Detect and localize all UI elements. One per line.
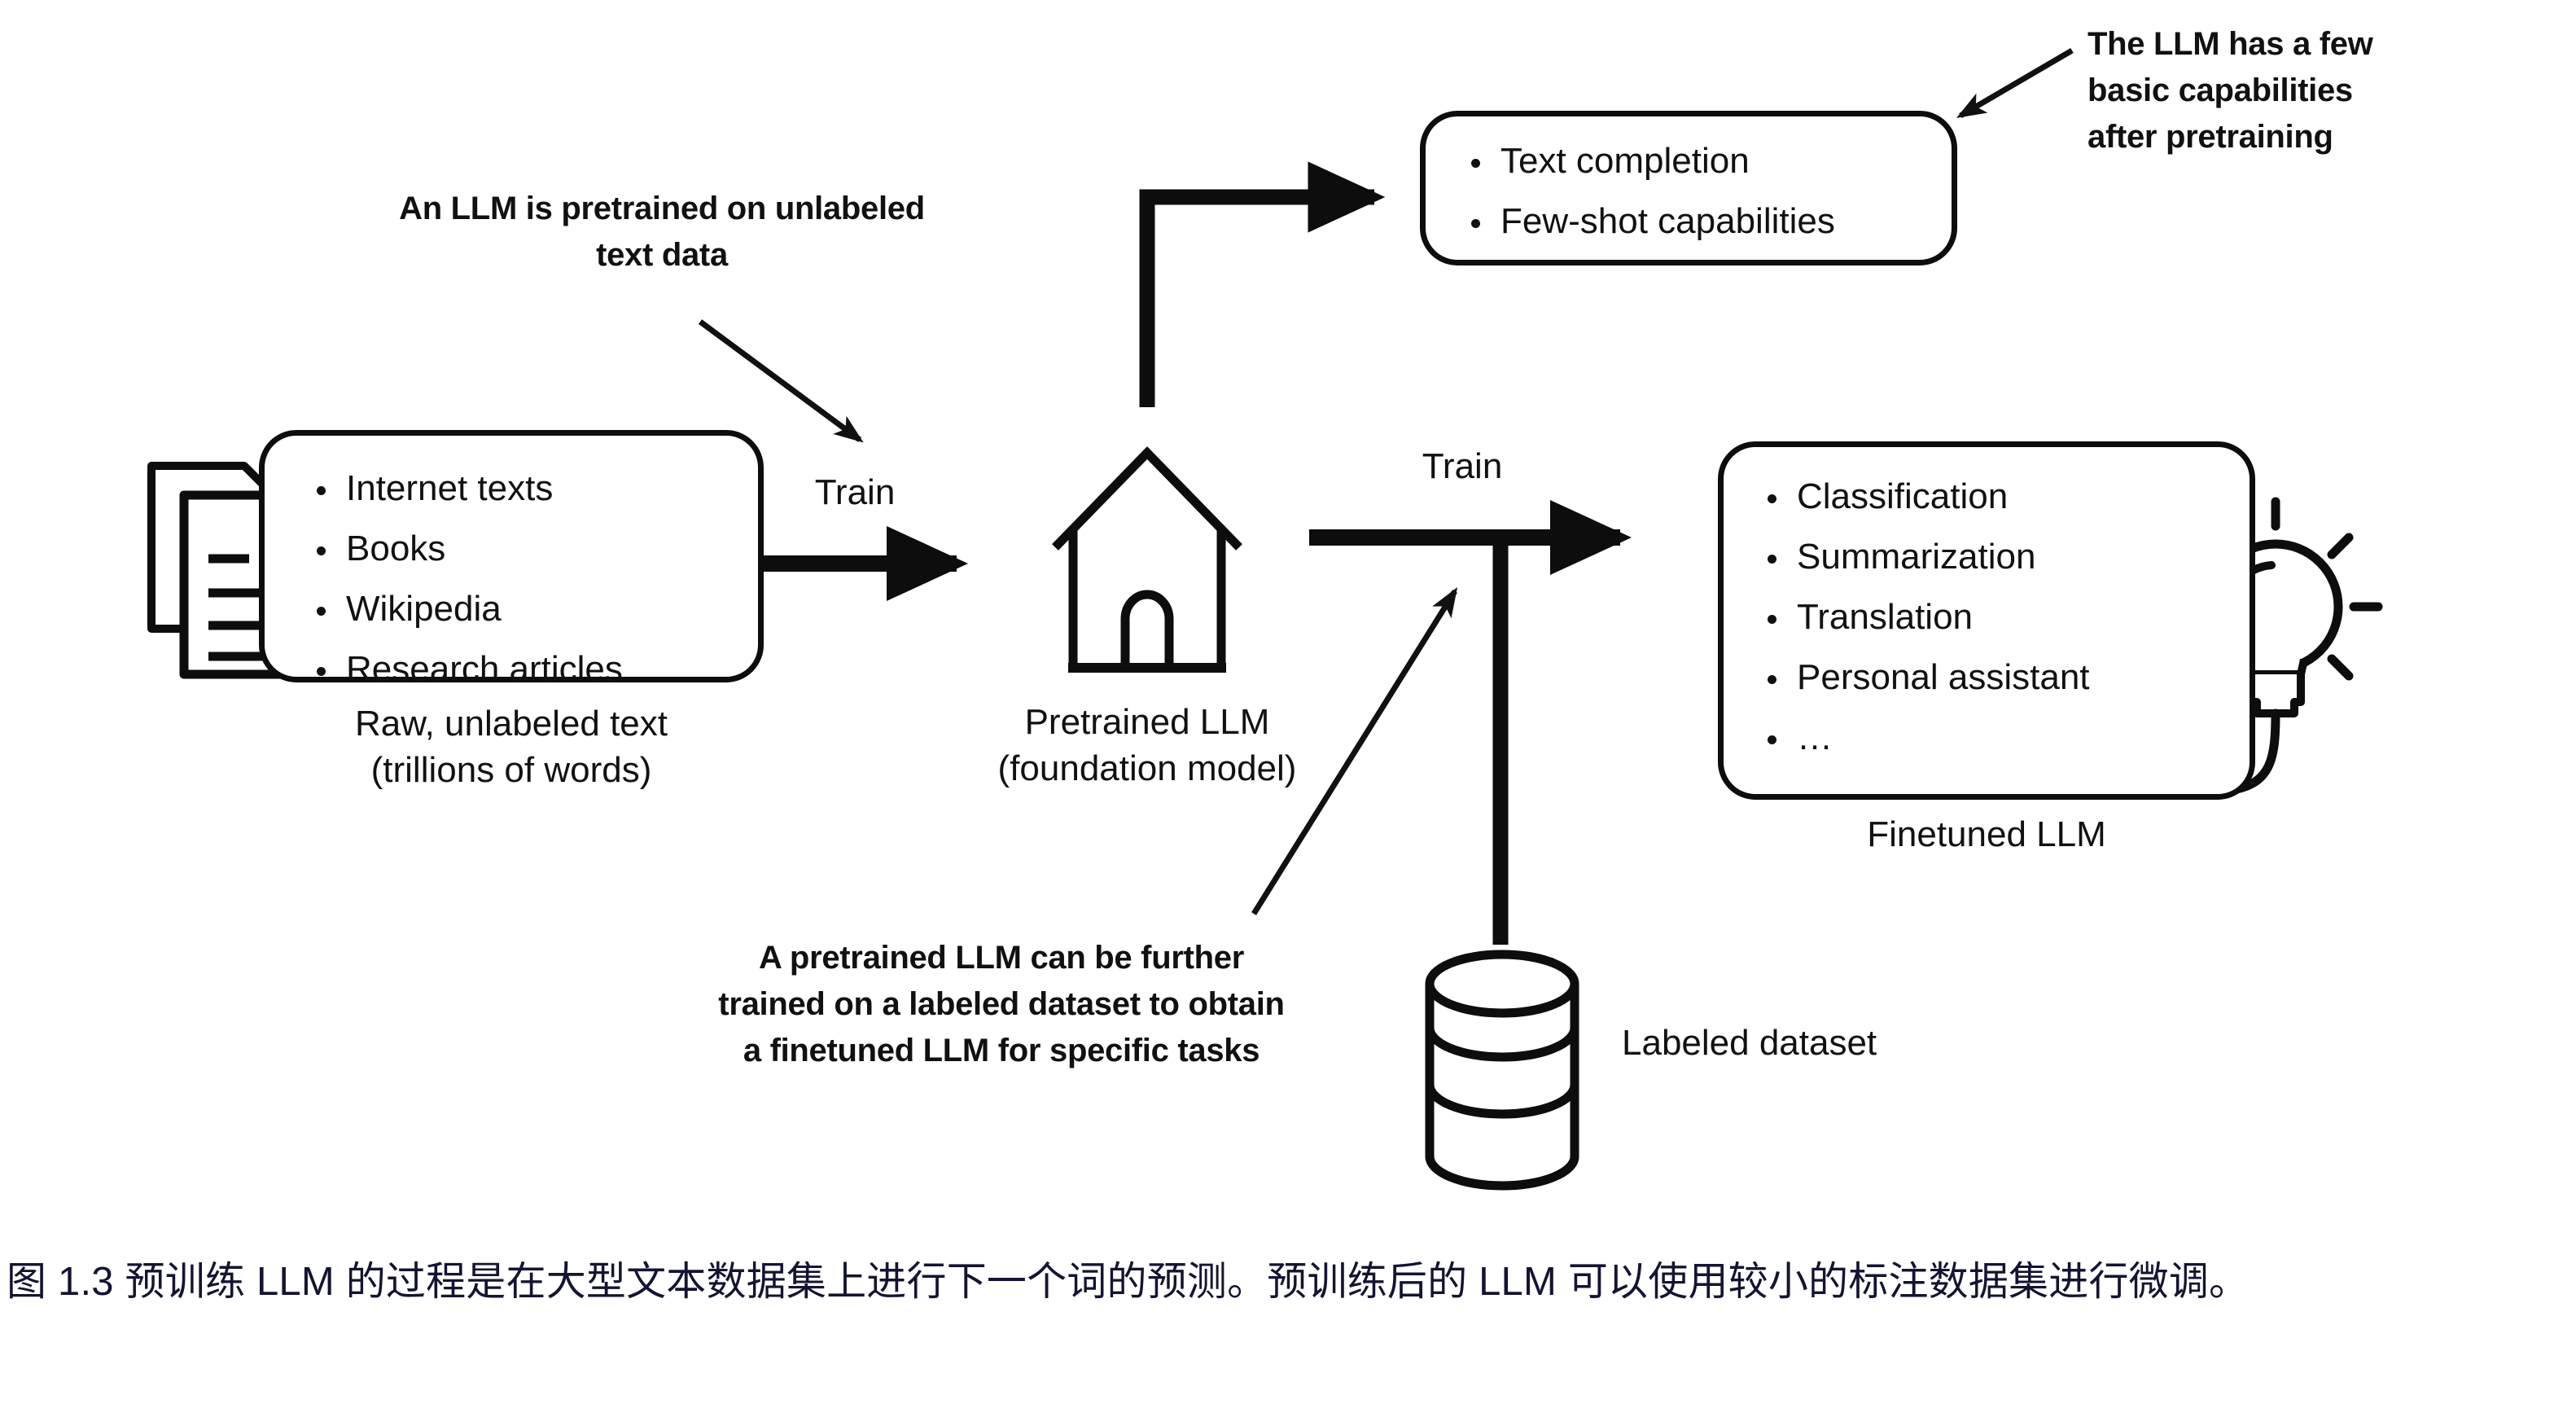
database-icon [1430, 954, 1575, 1186]
list-item: … [1761, 708, 2250, 768]
raw-data-caption-line1: Raw, unlabeled text [210, 700, 813, 747]
list-item: Text completion [1465, 131, 1952, 191]
train-label-1: Train [757, 469, 953, 516]
list-item: Internet texts [310, 458, 758, 519]
labeled-dataset-label: Labeled dataset [1622, 1020, 2045, 1066]
list-item: Summarization [1761, 527, 2250, 587]
finetuned-list: Classification Summarization Translation… [1761, 467, 2250, 768]
capabilities-annotation: The LLM has a few basic capabilities aft… [2088, 21, 2560, 160]
pretrain-annotation: An LLM is pretrained on unlabeled text d… [340, 186, 984, 279]
train-label-2: Train [1365, 443, 1560, 489]
capabilities-elbow-arrow [1147, 197, 1374, 407]
pretrain-note-arrow [700, 322, 860, 440]
finetune-annotation: A pretrained LLM can be further trained … [643, 935, 1360, 1073]
raw-data-list: Internet texts Books Wikipedia Research … [310, 458, 758, 700]
list-item: Translation [1761, 587, 2250, 647]
diagram-canvas: Internet texts Books Wikipedia Research … [0, 0, 2576, 1222]
house-icon [1055, 453, 1239, 668]
finetuned-caption: Finetuned LLM [1718, 811, 2255, 858]
pretrained-model-caption: Pretrained LLM (foundation model) [899, 699, 1395, 792]
capabilities-box: Text completion Few-shot capabilities [1420, 111, 1957, 265]
capabilities-note-arrow [1960, 50, 2072, 116]
figure-page: Internet texts Books Wikipedia Research … [0, 0, 2576, 1404]
list-item: Personal assistant [1761, 647, 2250, 708]
capabilities-list: Text completion Few-shot capabilities [1465, 131, 1952, 252]
list-item: Research articles [310, 639, 758, 700]
list-item: Books [310, 519, 758, 579]
list-item: Classification [1761, 467, 2250, 527]
raw-data-box: Internet texts Books Wikipedia Research … [259, 430, 764, 682]
pretrained-caption-line2: (foundation model) [899, 745, 1395, 792]
figure-caption: 图 1.3 预训练 LLM 的过程是在大型文本数据集上进行下一个词的预测。预训练… [7, 1254, 2571, 1311]
raw-data-caption: Raw, unlabeled text (trillions of words) [210, 700, 813, 793]
list-item: Few-shot capabilities [1465, 191, 1952, 252]
list-item: Wikipedia [310, 579, 758, 639]
raw-data-caption-line2: (trillions of words) [210, 747, 813, 793]
pretrained-caption-line1: Pretrained LLM [899, 699, 1395, 745]
finetuned-box: Classification Summarization Translation… [1718, 441, 2255, 800]
